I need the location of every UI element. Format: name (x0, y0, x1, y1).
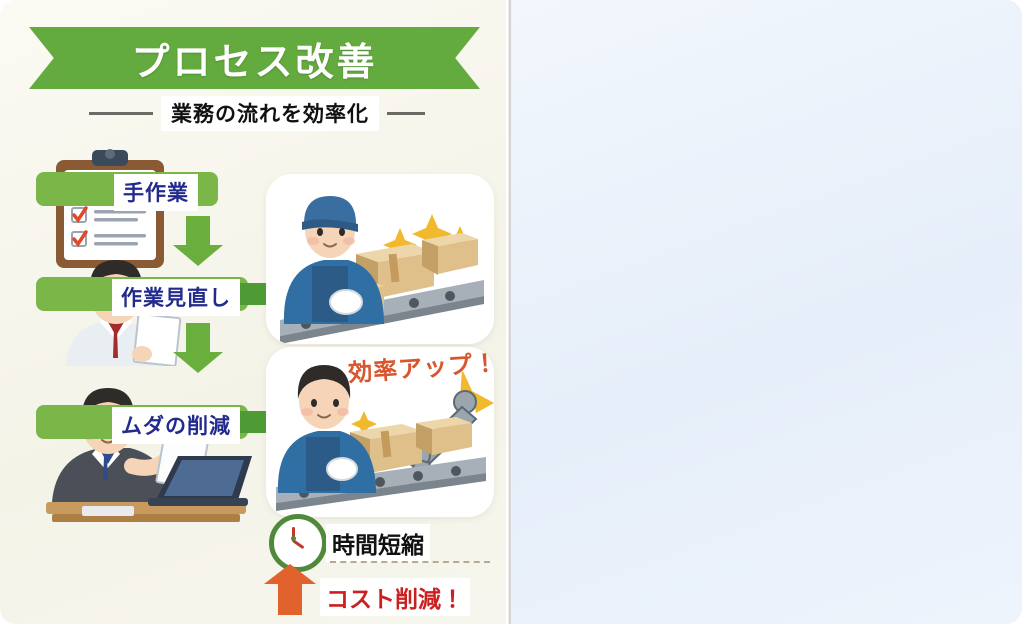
subtitle-rule-right (387, 112, 425, 115)
left-subtitle-text: 業務の流れを効率化 (161, 96, 379, 131)
step-pill-1[interactable]: 手作業 (36, 172, 218, 206)
step-label-2: 作業見直し (112, 279, 240, 316)
up-arrow-icon (278, 583, 302, 615)
step-pill-2[interactable]: 作業見直し (36, 277, 248, 311)
left-panel-process-improvement: プロセス改善 業務の流れを効率化 (0, 0, 506, 624)
illustration-worker-conveyor-boxes (266, 174, 494, 344)
results-divider (330, 561, 490, 563)
step-arrow-right-3 (240, 411, 268, 433)
step-arrow-right-2 (240, 283, 268, 305)
step-arrow-down-1 (186, 216, 210, 246)
step-label-1: 手作業 (114, 174, 198, 211)
left-banner-title: プロセス改善 (131, 31, 377, 86)
step-arrow-down-2 (186, 323, 210, 353)
subtitle-rule-left (89, 112, 153, 115)
result-label-time: 時間短縮 (326, 524, 430, 562)
person-at-laptop-icon (36, 380, 256, 540)
right-panel-system-improvement: システム改善 ITの活用で業務改善 (512, 0, 1022, 624)
left-banner-ribbon: プロセス改善 (29, 27, 480, 89)
result-label-cost: コスト削減！ (320, 578, 470, 616)
left-subtitle: 業務の流れを効率化 (72, 96, 442, 131)
step-label-3: ムダの削減 (112, 407, 240, 444)
step-pill-3[interactable]: ムダの削減 (36, 405, 248, 439)
infographic-root: プロセス改善 業務の流れを効率化 (0, 0, 1022, 624)
